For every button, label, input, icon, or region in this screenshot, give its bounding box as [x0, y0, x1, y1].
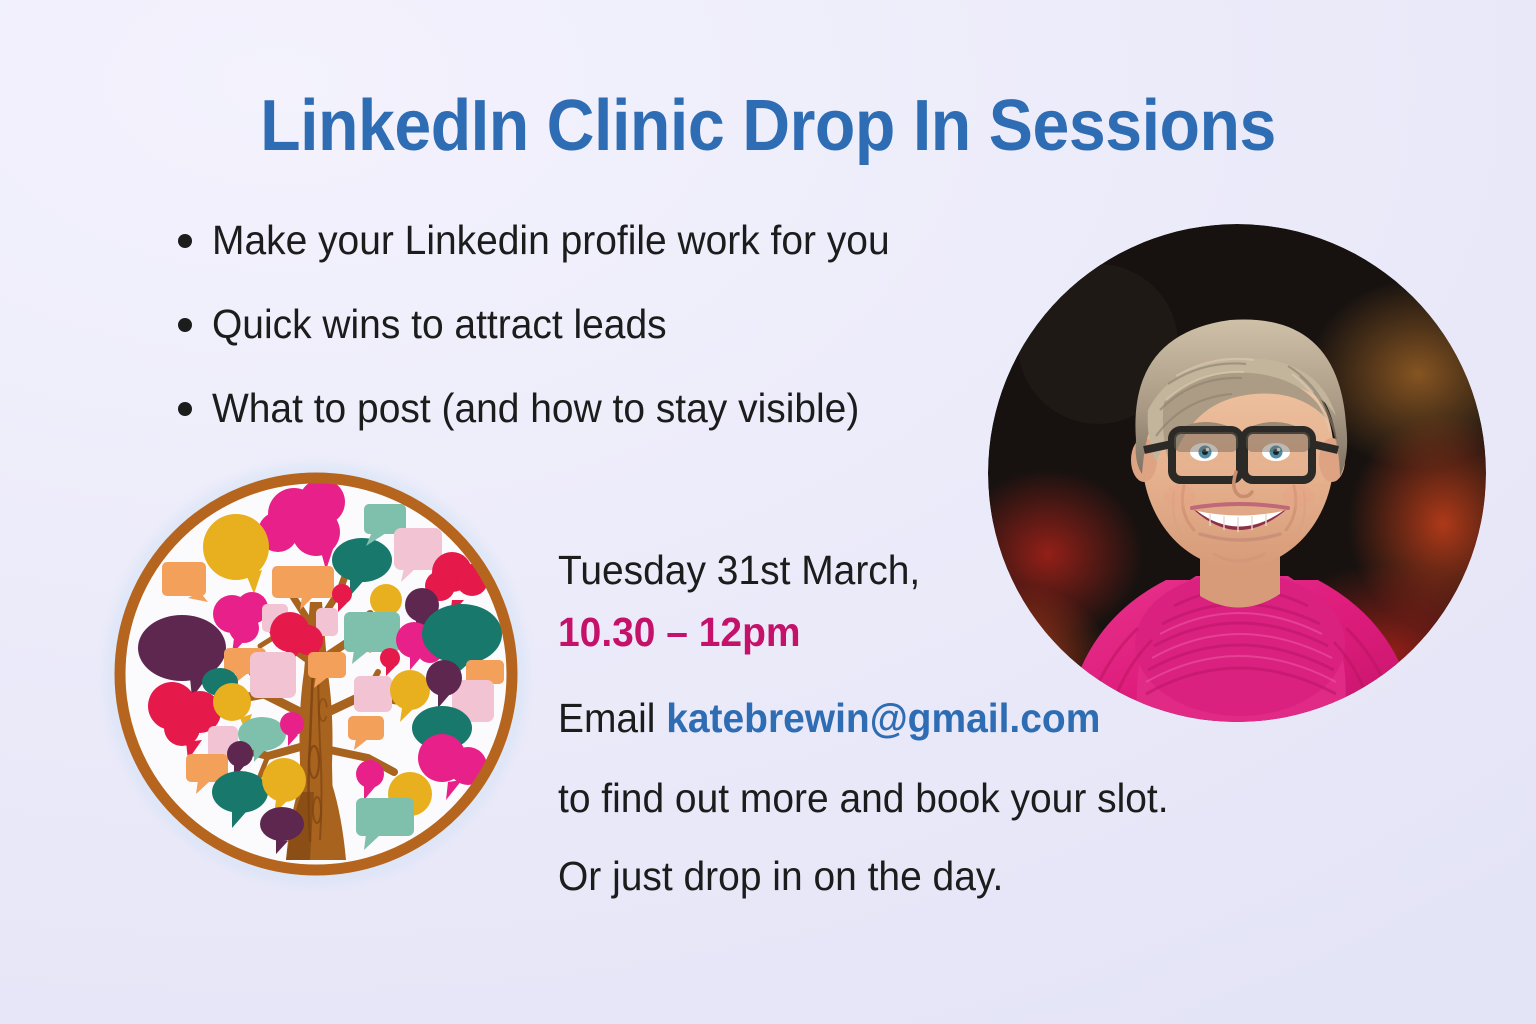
speech-bubble-tree-logo — [104, 462, 528, 886]
page-title: LinkedIn Clinic Drop In Sessions — [61, 84, 1474, 168]
headshot-illustration — [988, 224, 1486, 722]
list-item-label: Make your Linkedin profile work for you — [212, 214, 890, 266]
bullet-dot-icon — [178, 234, 192, 248]
logo-illustration — [104, 462, 528, 886]
bubble — [203, 514, 269, 580]
benefits-list: Make your Linkedin profile work for you … — [178, 214, 1038, 466]
bullet-dot-icon — [178, 318, 192, 332]
booking-instruction: to find out more and book your slot. — [558, 772, 1223, 824]
poster-canvas: LinkedIn Clinic Drop In Sessions Make yo… — [0, 0, 1536, 1024]
bullet-dot-icon — [178, 402, 192, 416]
email-line: Email katebrewin@gmail.com — [558, 692, 1223, 744]
dropin-note: Or just drop in on the day. — [558, 850, 1223, 902]
email-prefix-label: Email — [558, 695, 666, 741]
list-item: What to post (and how to stay visible) — [178, 382, 1038, 434]
list-item-label: Quick wins to attract leads — [212, 298, 667, 350]
list-item: Make your Linkedin profile work for you — [178, 214, 1038, 266]
list-item: Quick wins to attract leads — [178, 298, 1038, 350]
presenter-headshot — [988, 224, 1486, 722]
email-address-link[interactable]: katebrewin@gmail.com — [666, 695, 1100, 741]
list-item-label: What to post (and how to stay visible) — [212, 382, 859, 434]
